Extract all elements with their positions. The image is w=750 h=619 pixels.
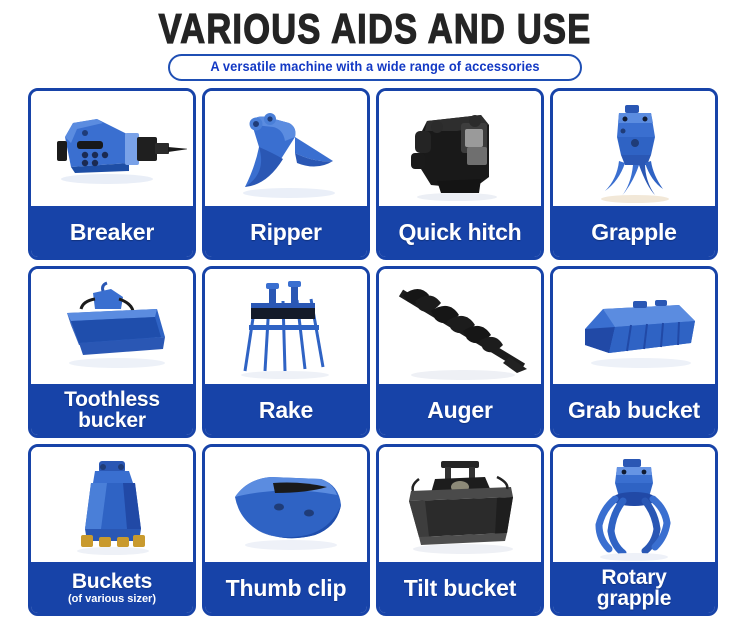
- poster-header: VARIOUS AIDS AND USE A versatile machine…: [0, 0, 750, 81]
- toothless-bucket-photo: [31, 269, 193, 391]
- attachment-card-ripper[interactable]: Ripper: [202, 88, 370, 260]
- card-label: Toothless bucker: [30, 384, 194, 436]
- page-title: VARIOUS AIDS AND USE: [68, 6, 683, 52]
- attachment-card-grapple[interactable]: Grapple: [550, 88, 718, 260]
- grapple-photo: [553, 91, 715, 213]
- card-label-text: Ripper: [250, 221, 322, 244]
- card-label: Grab bucket: [552, 384, 716, 436]
- card-label: Thumb clip: [204, 562, 368, 614]
- card-label: Breaker: [30, 206, 194, 258]
- thumb-clip-photo: [205, 447, 367, 569]
- card-label: Buckets (of various sizer): [30, 562, 194, 614]
- ripper-photo: [205, 91, 367, 213]
- card-label-text: Thumb clip: [226, 577, 347, 600]
- attachment-card-rotary-grapple[interactable]: Rotary grapple: [550, 444, 718, 616]
- card-label: Rotary grapple: [552, 562, 716, 614]
- attachment-card-buckets[interactable]: Buckets (of various sizer): [28, 444, 196, 616]
- attachment-card-tilt-bucket[interactable]: Tilt bucket: [376, 444, 544, 616]
- attachment-card-rake[interactable]: Rake: [202, 266, 370, 438]
- grab-bucket-photo: [553, 269, 715, 391]
- card-label-text: Breaker: [70, 221, 154, 244]
- quick-hitch-photo: [379, 91, 541, 213]
- auger-photo: [379, 269, 541, 391]
- bucket-photo: [31, 447, 193, 569]
- rake-photo: [205, 269, 367, 391]
- subtitle-text: A versatile machine with a wide range of…: [210, 59, 539, 73]
- card-label: Rake: [204, 384, 368, 436]
- card-label-text: Tilt bucket: [404, 577, 516, 600]
- card-label: Quick hitch: [378, 206, 542, 258]
- attachment-card-breaker[interactable]: Breaker: [28, 88, 196, 260]
- attachment-grid: Breaker: [28, 88, 722, 619]
- breaker-photo: [31, 91, 193, 213]
- attachments-poster: VARIOUS AIDS AND USE A versatile machine…: [0, 0, 750, 615]
- attachment-card-thumb-clip[interactable]: Thumb clip: [202, 444, 370, 616]
- card-label-text: Buckets: [72, 571, 152, 592]
- card-label-text: Toothless bucker: [64, 389, 160, 431]
- tilt-bucket-photo: [379, 447, 541, 569]
- card-label-text: Grapple: [591, 221, 677, 244]
- rotary-grapple-photo: [553, 447, 715, 569]
- attachment-card-quick-hitch[interactable]: Quick hitch: [376, 88, 544, 260]
- card-label-sub: (of various sizer): [68, 593, 156, 605]
- subtitle-container: A versatile machine with a wide range of…: [0, 54, 750, 81]
- attachment-card-toothless-bucker[interactable]: Toothless bucker: [28, 266, 196, 438]
- card-label: Grapple: [552, 206, 716, 258]
- attachment-card-grab-bucket[interactable]: Grab bucket: [550, 266, 718, 438]
- card-label-text: Auger: [427, 399, 492, 422]
- subtitle-pill: A versatile machine with a wide range of…: [168, 54, 582, 81]
- attachment-card-auger[interactable]: Auger: [376, 266, 544, 438]
- card-label-text: Grab bucket: [568, 399, 700, 422]
- card-label: Ripper: [204, 206, 368, 258]
- card-label-text: Rotary grapple: [597, 567, 671, 609]
- card-label-text: Quick hitch: [398, 221, 521, 244]
- card-label: Auger: [378, 384, 542, 436]
- card-label: Tilt bucket: [378, 562, 542, 614]
- card-label-text: Rake: [259, 399, 313, 422]
